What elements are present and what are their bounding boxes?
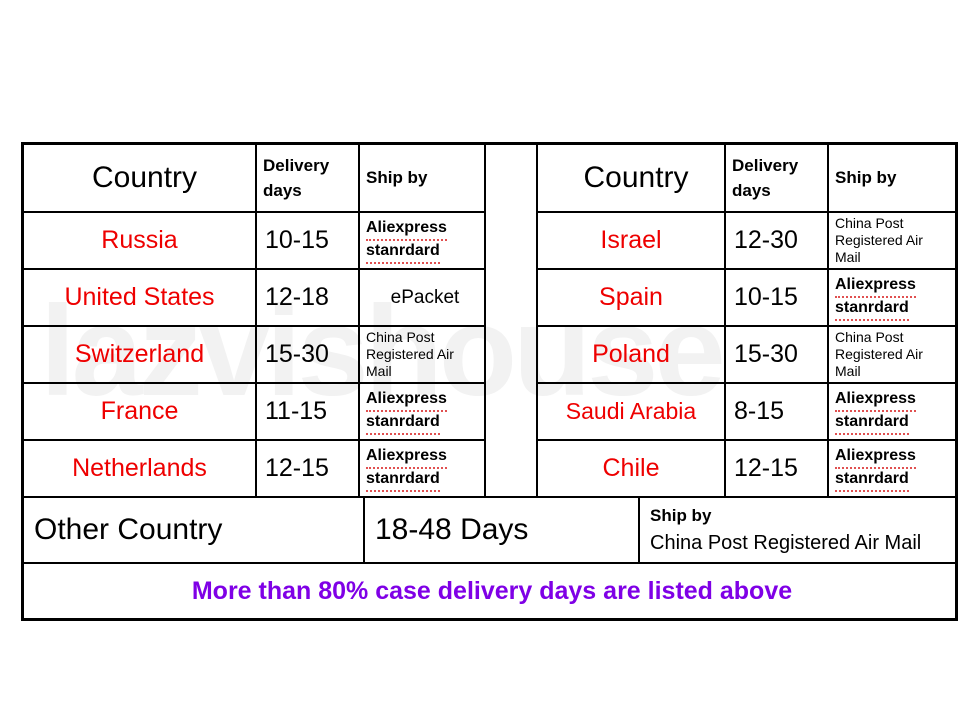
right-header-country: Country: [538, 145, 726, 213]
table-row-country: Israel: [538, 213, 726, 270]
table-row-shipby: Aliexpress stanrdard: [829, 441, 956, 498]
left-header-country: Country: [24, 145, 257, 213]
table-row-days: 8-15: [726, 384, 829, 441]
table-row-shipby: China Post Registered Air Mail: [360, 327, 486, 384]
table-row-country: Spain: [538, 270, 726, 327]
table-spacer-column: [486, 145, 538, 498]
table-row-shipby: Aliexpress stanrdard: [360, 213, 486, 270]
table-row-days: 11-15: [257, 384, 360, 441]
table-row-days: 12-15: [257, 441, 360, 498]
table-row-days: 15-30: [726, 327, 829, 384]
table-row-shipby: Aliexpress stanrdard: [360, 384, 486, 441]
delivery-note: More than 80% case delivery days are lis…: [24, 564, 956, 618]
other-shipby-value: China Post Registered Air Mail: [650, 532, 956, 555]
right-header-delivery-line2: days: [732, 178, 827, 204]
other-country-label: Other Country: [24, 498, 365, 564]
table-row-days: 10-15: [726, 270, 829, 327]
table-row-country: United States: [24, 270, 257, 327]
other-country-shipby: Ship by China Post Registered Air Mail: [640, 498, 956, 564]
table-row-country: Chile: [538, 441, 726, 498]
table-row-shipby: China Post Registered Air Mail: [829, 327, 956, 384]
table-row-shipby: Aliexpress stanrdard: [829, 270, 956, 327]
table-row-country: Russia: [24, 213, 257, 270]
left-header-delivery-days: Delivery days: [257, 145, 360, 213]
table-row-country: Poland: [538, 327, 726, 384]
other-shipby-label: Ship by: [650, 506, 956, 526]
left-header-ship-by: Ship by: [360, 145, 486, 213]
table-row-country: France: [24, 384, 257, 441]
shipping-table: Country Delivery days Ship by Russia 10-…: [21, 142, 958, 621]
table-grid: Country Delivery days Ship by Russia 10-…: [24, 145, 955, 618]
other-country-days: 18-48 Days: [365, 498, 640, 564]
table-row-country: Saudi Arabia: [538, 384, 726, 441]
table-row-shipby: Aliexpress stanrdard: [829, 384, 956, 441]
table-row-shipby: ePacket: [360, 270, 486, 327]
left-header-delivery-line2: days: [263, 178, 358, 204]
table-row-country: Switzerland: [24, 327, 257, 384]
table-row-days: 12-18: [257, 270, 360, 327]
table-row-days: 12-15: [726, 441, 829, 498]
right-header-delivery-line1: Delivery: [732, 153, 827, 179]
table-row-shipby: Aliexpress stanrdard: [360, 441, 486, 498]
right-header-delivery-days: Delivery days: [726, 145, 829, 213]
table-row-shipby: China Post Registered Air Mail: [829, 213, 956, 270]
table-row-days: 10-15: [257, 213, 360, 270]
table-row-country: Netherlands: [24, 441, 257, 498]
table-row-days: 12-30: [726, 213, 829, 270]
left-header-delivery-line1: Delivery: [263, 153, 358, 179]
table-row-days: 15-30: [257, 327, 360, 384]
right-header-ship-by: Ship by: [829, 145, 956, 213]
